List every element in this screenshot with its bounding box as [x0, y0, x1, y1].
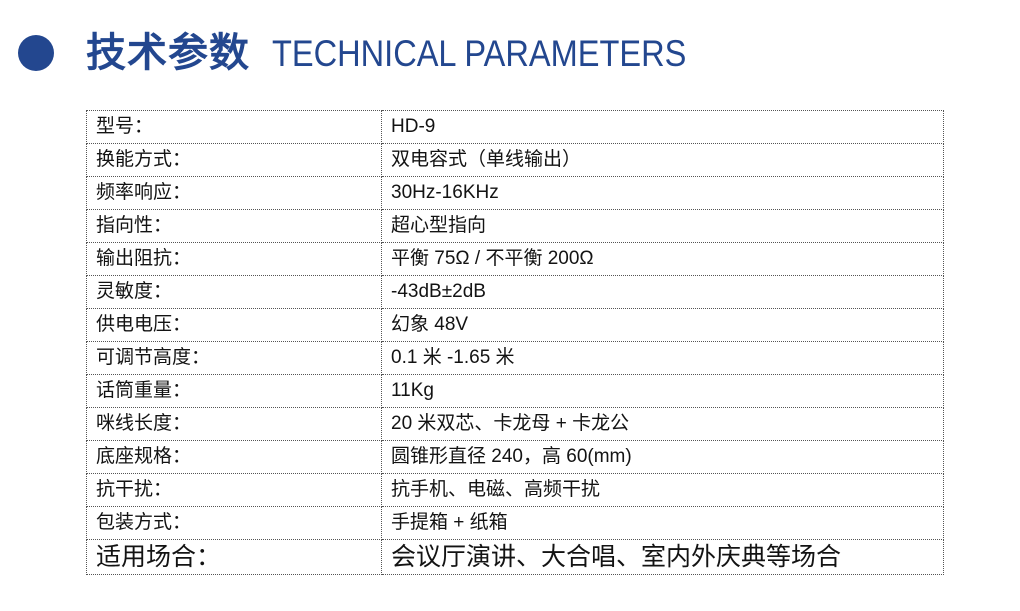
table-row: 话筒重量：11Kg	[87, 375, 944, 408]
table-row: 输出阻抗：平衡 75Ω / 不平衡 200Ω	[87, 243, 944, 276]
spec-label-cell: 输出阻抗：	[87, 243, 382, 276]
spec-value-cell: 11Kg	[382, 375, 944, 408]
spec-label-cell: 供电电压：	[87, 309, 382, 342]
spec-label-cell: 灵敏度：	[87, 276, 382, 309]
table-row: 换能方式：双电容式（单线输出）	[87, 144, 944, 177]
spec-label-cell: 指向性：	[87, 210, 382, 243]
spec-value-cell: 超心型指向	[382, 210, 944, 243]
technical-parameters-section: 型号：HD-9换能方式：双电容式（单线输出）频率响应：30Hz-16KHz指向性…	[86, 110, 924, 575]
table-row: 咪线长度：20 米双芯、卡龙母 + 卡龙公	[87, 408, 944, 441]
spec-label-cell: 话筒重量：	[87, 375, 382, 408]
spec-label-cell: 咪线长度：	[87, 408, 382, 441]
table-row: 指向性：超心型指向	[87, 210, 944, 243]
spec-value-cell: -43dB±2dB	[382, 276, 944, 309]
spec-label-cell: 适用场合：	[87, 540, 382, 575]
page-title-cn: 技术参数	[86, 33, 250, 73]
filled-circle-icon	[18, 35, 54, 71]
spec-value-cell: 抗手机、电磁、高频干扰	[382, 474, 944, 507]
spec-value-cell: 20 米双芯、卡龙母 + 卡龙公	[382, 408, 944, 441]
table-row: 频率响应：30Hz-16KHz	[87, 177, 944, 210]
page-header: 技术参数 TECHNICAL PARAMETERS	[0, 18, 1020, 88]
page-title-en: TECHNICAL PARAMETERS	[272, 35, 686, 72]
spec-value-cell: 0.1 米 -1.65 米	[382, 342, 944, 375]
spec-label-cell: 频率响应：	[87, 177, 382, 210]
spec-label-cell: 可调节高度：	[87, 342, 382, 375]
spec-value-cell: 双电容式（单线输出）	[382, 144, 944, 177]
spec-value-cell: 30Hz-16KHz	[382, 177, 944, 210]
spec-value-cell: 会议厅演讲、大合唱、室内外庆典等场合	[382, 540, 944, 575]
spec-label-cell: 换能方式：	[87, 144, 382, 177]
spec-label-cell: 底座规格：	[87, 441, 382, 474]
spec-value-cell: 平衡 75Ω / 不平衡 200Ω	[382, 243, 944, 276]
spec-value-cell: 幻象 48V	[382, 309, 944, 342]
table-row: 灵敏度：-43dB±2dB	[87, 276, 944, 309]
table-row: 型号：HD-9	[87, 111, 944, 144]
spec-value-cell: 圆锥形直径 240，高 60(mm)	[382, 441, 944, 474]
table-row: 底座规格：圆锥形直径 240，高 60(mm)	[87, 441, 944, 474]
table-row: 适用场合：会议厅演讲、大合唱、室内外庆典等场合	[87, 540, 944, 575]
spec-value-cell: HD-9	[382, 111, 944, 144]
spec-label-cell: 包装方式：	[87, 507, 382, 540]
spec-label-cell: 型号：	[87, 111, 382, 144]
table-row: 可调节高度：0.1 米 -1.65 米	[87, 342, 944, 375]
spec-table: 型号：HD-9换能方式：双电容式（单线输出）频率响应：30Hz-16KHz指向性…	[86, 110, 944, 575]
table-row: 供电电压：幻象 48V	[87, 309, 944, 342]
spec-value-cell: 手提箱 + 纸箱	[382, 507, 944, 540]
table-row: 抗干扰：抗手机、电磁、高频干扰	[87, 474, 944, 507]
spec-table-body: 型号：HD-9换能方式：双电容式（单线输出）频率响应：30Hz-16KHz指向性…	[87, 111, 944, 575]
spec-label-cell: 抗干扰：	[87, 474, 382, 507]
table-row: 包装方式：手提箱 + 纸箱	[87, 507, 944, 540]
